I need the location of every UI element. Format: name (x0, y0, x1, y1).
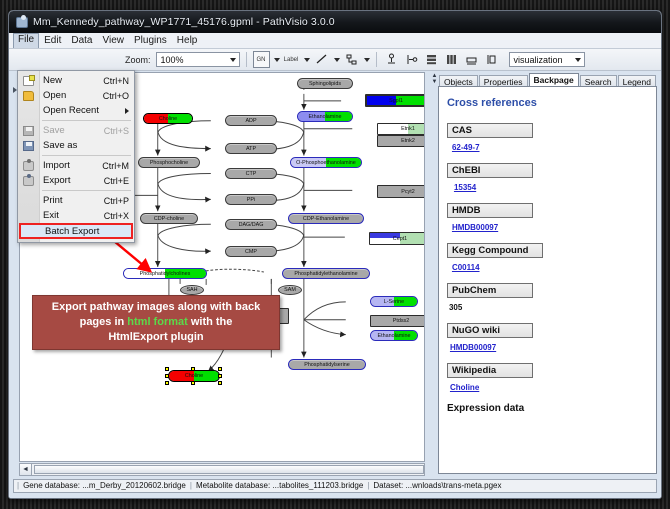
chevron-down-icon (230, 58, 236, 62)
open-folder-icon (23, 91, 34, 101)
file-menu-separator-3 (42, 190, 131, 191)
pathway-node-phosphatidylserine[interactable]: Phosphatidylserine (288, 359, 366, 370)
line-icon[interactable] (313, 51, 330, 68)
desktop-background: Mm_Kennedy_pathway_WP1771_45176.gpml - P… (0, 0, 670, 509)
file-menu-label-save-as: Save as (43, 140, 77, 151)
window-title: Mm_Kennedy_pathway_WP1771_45176.gpml - P… (33, 16, 335, 28)
file-menu-label-open: Open (43, 90, 66, 101)
xref-header-pubchem: PubChem (447, 283, 533, 298)
status-metabolite-database: Metabolite database: ...tabolites_111203… (196, 481, 363, 490)
xref-header-cas: CAS (447, 123, 533, 138)
file-menu-item-open[interactable]: Open Ctrl+O (18, 88, 134, 103)
file-menu-accel-new: Ctrl+N (103, 76, 129, 86)
side-panel: ▲▼ Objects Properties Backpage Search Le… (428, 71, 661, 476)
pathway-node-sam[interactable]: SAM (278, 285, 302, 295)
zoom-label: Zoom: (125, 55, 151, 65)
file-menu-label-open-recent: Open Recent (43, 105, 99, 116)
zoom-value: 100% (161, 55, 184, 65)
file-menu-accel-save: Ctrl+S (104, 126, 129, 136)
visualization-combobox[interactable]: visualization (509, 52, 585, 67)
file-menu-label-exit: Exit (43, 210, 59, 221)
selection-handle-sw[interactable] (165, 381, 169, 385)
annotation-line3: HtmlExport plugin (108, 331, 203, 343)
xref-header-chebi: ChEBI (447, 163, 533, 178)
selection-handle-nw[interactable] (165, 367, 169, 371)
visualization-value: visualization (514, 55, 563, 65)
pathway-node-cdp-ethanolamine[interactable]: CDP-Ethanolamine (288, 213, 364, 224)
file-menu-label-new: New (43, 75, 62, 86)
selection-handle-n[interactable] (191, 367, 195, 371)
selection-handle-ne[interactable] (218, 367, 222, 371)
file-menu-label-save: Save (43, 125, 65, 136)
chevron-down-icon (575, 58, 581, 62)
hmdb-link[interactable]: HMDB00097 (452, 223, 498, 232)
xref-header-hmdb: HMDB (447, 203, 533, 218)
align-left-icon[interactable] (403, 51, 420, 68)
xref-value-nugo: HMDB00097 (450, 343, 656, 352)
annotation-highlight: html format (127, 316, 188, 328)
pathway-node-adp[interactable]: ADP (225, 115, 277, 126)
menu-help[interactable]: Help (172, 34, 203, 48)
stack-columns-icon[interactable] (443, 51, 460, 68)
pathway-node-dag[interactable]: DAG/DAG (225, 219, 277, 230)
file-menu-item-save: Save Ctrl+S (18, 123, 134, 138)
menu-plugins[interactable]: Plugins (129, 34, 172, 48)
selection-handle-e[interactable] (218, 374, 222, 378)
file-menu-item-open-recent[interactable]: Open Recent (18, 103, 134, 118)
selection-handle-w[interactable] (165, 374, 169, 378)
pathway-node-ethanolamine-bottom[interactable]: Ethanolamine (370, 330, 418, 341)
expression-data-title: Expression data (447, 403, 656, 414)
export-icon (23, 176, 34, 186)
pathway-gene-etnk2[interactable]: Etnk2 (377, 135, 425, 147)
scroll-left-arrow-icon[interactable]: ◄ (20, 464, 32, 475)
file-menu-item-exit[interactable]: Exit Ctrl+X (18, 208, 134, 223)
pathway-node-phosphocholine[interactable]: Phosphocholine (138, 157, 200, 168)
pathway-gene-etnk1[interactable]: Etnk1 (377, 123, 425, 135)
xref-value-kegg: C00114 (452, 263, 656, 272)
selection-handle-s[interactable] (191, 381, 195, 385)
save-as-icon (23, 141, 34, 151)
save-disk-icon (23, 126, 34, 136)
cross-references-title: Cross references (447, 97, 656, 109)
cas-link[interactable]: 62-49-7 (452, 143, 480, 152)
wikipedia-link[interactable]: Choline (450, 383, 479, 392)
zoom-combobox[interactable]: 100% (156, 52, 240, 67)
file-menu-label-export: Export (43, 175, 70, 186)
datanode-dropdown-icon[interactable] (274, 58, 280, 62)
selection-handle-se[interactable] (218, 381, 222, 385)
file-menu-label-batch-export: Batch Export (45, 226, 99, 237)
pathway-node-phosphatidylcholines[interactable]: Phosphatidylcholines (123, 268, 207, 279)
kegg-link[interactable]: C00114 (452, 263, 480, 272)
line-dropdown-icon[interactable] (334, 58, 340, 62)
annotation-line1: Export pathway images along with back (52, 301, 260, 313)
file-menu-item-print[interactable]: Print Ctrl+P (18, 193, 134, 208)
status-separator-2: | (367, 481, 369, 490)
canvas-horizontal-scrollbar[interactable]: ◄ (19, 463, 425, 476)
window-titlebar: Mm_Kennedy_pathway_WP1771_45176.gpml - P… (9, 11, 661, 33)
xref-header-nugo: NuGO wiki (447, 323, 533, 338)
file-menu-accel-export: Ctrl+E (104, 176, 129, 186)
file-menu-label-print: Print (43, 195, 63, 206)
annotation-line2-b: with the (188, 316, 233, 328)
xref-value-wikipedia: Choline (450, 383, 656, 392)
pathway-gene-sgpl1[interactable]: Sgpl1 (365, 94, 425, 107)
tab-scroll-arrows[interactable]: ▲▼ (431, 73, 438, 88)
file-menu-popup[interactable]: New Ctrl+N Open Ctrl+O Open Recent Save … (17, 70, 135, 243)
menubar: File Edit Data View Plugins Help (9, 33, 661, 49)
backpage-content: Cross references CAS 62-49-7 ChEBI 15354… (438, 86, 657, 474)
status-separator-1: | (190, 481, 192, 490)
interaction-icon[interactable] (343, 51, 360, 68)
pathway-gene-pcyt2[interactable]: Pcyt2 (377, 185, 425, 198)
file-menu-accel-exit: Ctrl+X (104, 211, 129, 221)
pathvisio-app-icon (15, 15, 28, 28)
common-width-icon[interactable] (463, 51, 480, 68)
xref-value-hmdb: HMDB00097 (452, 223, 656, 232)
toolbar: Zoom: 100% GN Label (9, 49, 661, 71)
xref-header-wikipedia: Wikipedia (447, 363, 533, 378)
menu-edit[interactable]: Edit (39, 34, 66, 48)
pathway-node-sphingolipids[interactable]: Sphingolipids (297, 78, 353, 89)
datanode-icon[interactable]: GN (253, 51, 270, 68)
file-menu-separator-2 (42, 155, 131, 156)
annotation-callout: Export pathway images along with back pa… (32, 295, 280, 350)
submenu-arrow-icon (125, 108, 129, 114)
common-height-icon[interactable] (483, 51, 500, 68)
status-separator-0: | (17, 481, 19, 490)
file-menu-item-batch-export[interactable]: Batch Export (19, 223, 133, 239)
file-menu-accel-print: Ctrl+P (104, 196, 129, 206)
import-icon (23, 161, 34, 171)
label-dropdown-icon[interactable] (304, 58, 310, 62)
pathway-node-choline-top[interactable]: Choline (143, 113, 193, 124)
pathway-node-l-serine[interactable]: L-Serine (370, 296, 418, 307)
toolbar-separator (246, 52, 247, 67)
application-window: Mm_Kennedy_pathway_WP1771_45176.gpml - P… (8, 10, 662, 499)
stack-rows-icon[interactable] (423, 51, 440, 68)
file-menu-item-new[interactable]: New Ctrl+N (18, 73, 134, 88)
file-menu-accel-import: Ctrl+M (102, 161, 129, 171)
file-menu-item-save-as[interactable]: Save as (18, 138, 134, 153)
toolbar-separator-2 (376, 52, 377, 67)
status-gene-database: Gene database: ...m_Derby_20120602.bridg… (23, 481, 186, 490)
file-menu-item-import[interactable]: Import Ctrl+M (18, 158, 134, 173)
nugo-link[interactable]: HMDB00097 (450, 343, 496, 352)
pathway-node-phosphatidylethanolamine[interactable]: Phosphatidylethanolamine (282, 268, 370, 279)
menu-data[interactable]: Data (66, 34, 97, 48)
pathway-gene-ptdss2[interactable]: Ptdss2 (370, 315, 425, 327)
pathway-node-o-phosphoethanolamine[interactable]: O-Phosphoethanolamine (290, 157, 362, 168)
status-dataset: Dataset: ...wnloads\trans-meta.pgex (373, 481, 501, 490)
pathway-node-sah[interactable]: SAH (180, 285, 204, 295)
pathway-node-ctp[interactable]: CTP (225, 168, 277, 179)
xref-value-cas: 62-49-7 (452, 143, 656, 152)
chebi-link[interactable]: 15354 (454, 183, 476, 192)
file-menu-accel-open: Ctrl+O (103, 91, 129, 101)
pathway-node-cmp[interactable]: CMP (225, 246, 277, 257)
new-document-icon (23, 76, 34, 86)
annotation-line2-a: pages in (80, 316, 128, 328)
xref-value-chebi: 15354 (454, 183, 656, 192)
statusbar-content: | Gene database: ...m_Derby_20120602.bri… (13, 479, 657, 493)
pathway-gene-cept1[interactable]: Cept1 (369, 232, 425, 245)
pathway-node-atp[interactable]: ATP (225, 143, 277, 154)
pathway-node-ethanolamine-top[interactable]: Ethanolamine (297, 111, 353, 122)
pathway-node-cdp-choline[interactable]: CDP-choline (140, 213, 198, 224)
xref-value-pubchem: 305 (449, 303, 656, 312)
statusbar: | Gene database: ...m_Derby_20120602.bri… (9, 476, 661, 498)
file-menu-separator-1 (42, 120, 131, 121)
interaction-dropdown-icon[interactable] (364, 58, 370, 62)
menu-file[interactable]: File (13, 33, 39, 48)
xref-header-kegg: Kegg Compound (447, 243, 543, 258)
file-menu-label-import: Import (43, 160, 70, 171)
scrollbar-thumb[interactable] (34, 465, 424, 474)
pathway-node-ppi[interactable]: PPi (225, 194, 277, 205)
label-icon[interactable]: Label (283, 51, 300, 68)
align-top-icon[interactable] (383, 51, 400, 68)
menu-view[interactable]: View (97, 34, 129, 48)
file-menu-item-export[interactable]: Export Ctrl+E (18, 173, 134, 188)
